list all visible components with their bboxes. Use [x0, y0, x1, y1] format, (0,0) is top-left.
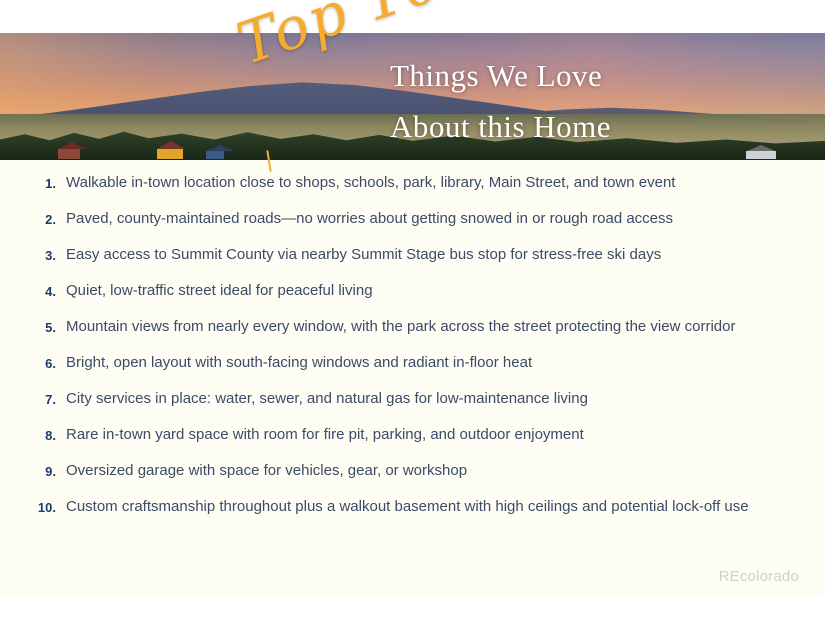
flyer-page: Things We Love About this Home Top 10 1.… [0, 0, 825, 619]
list-item: 3.Easy access to Summit County via nearb… [0, 244, 825, 266]
list-item: 2.Paved, county-maintained roads—no worr… [0, 208, 825, 230]
list-item-text: Custom craftsmanship throughout plus a w… [66, 497, 749, 516]
list-item: 10.Custom craftsmanship throughout plus … [0, 496, 825, 518]
house-body [157, 149, 183, 159]
roof-shape [58, 142, 86, 149]
list-item-text: Bright, open layout with south-facing wi… [66, 353, 532, 372]
list-item-number: 2. [28, 212, 66, 227]
list-item-number: 4. [28, 284, 66, 299]
house-red [58, 142, 86, 159]
list-item-text: City services in place: water, sewer, an… [66, 389, 588, 408]
list-item: 6.Bright, open layout with south-facing … [0, 352, 825, 374]
house-white [746, 145, 776, 159]
list-item-text: Quiet, low-traffic street ideal for peac… [66, 281, 373, 300]
list-item: 5.Mountain views from nearly every windo… [0, 316, 825, 338]
list-item-text: Easy access to Summit County via nearby … [66, 245, 661, 264]
list-item: 8.Rare in-town yard space with room for … [0, 424, 825, 446]
list-item-number: 7. [28, 392, 66, 407]
list-item-text: Paved, county-maintained roads—no worrie… [66, 209, 673, 228]
hero-photo [0, 33, 825, 160]
list-item-number: 1. [28, 176, 66, 191]
roof-shape [157, 141, 185, 149]
list-item: 1.Walkable in-town location close to sho… [0, 172, 825, 194]
list-item: 4.Quiet, low-traffic street ideal for pe… [0, 280, 825, 302]
feature-list: 1.Walkable in-town location close to sho… [0, 172, 825, 532]
list-item-number: 9. [28, 464, 66, 479]
list-item-number: 10. [28, 500, 66, 515]
list-item: 7.City services in place: water, sewer, … [0, 388, 825, 410]
list-item-text: Mountain views from nearly every window,… [66, 317, 735, 336]
list-item-number: 8. [28, 428, 66, 443]
house-body [746, 151, 776, 159]
list-item-text: Oversized garage with space for vehicles… [66, 461, 467, 480]
list-item-number: 3. [28, 248, 66, 263]
list-item-number: 6. [28, 356, 66, 371]
list-item-text: Walkable in-town location close to shops… [66, 173, 675, 192]
list-item-text: Rare in-town yard space with room for fi… [66, 425, 584, 444]
house-blue [206, 145, 234, 159]
house-yellow [157, 141, 185, 159]
list-item: 9.Oversized garage with space for vehicl… [0, 460, 825, 482]
house-body [58, 149, 80, 159]
recolorado-watermark: REcolorado [719, 568, 799, 585]
house-body [206, 151, 224, 159]
list-item-number: 5. [28, 320, 66, 335]
